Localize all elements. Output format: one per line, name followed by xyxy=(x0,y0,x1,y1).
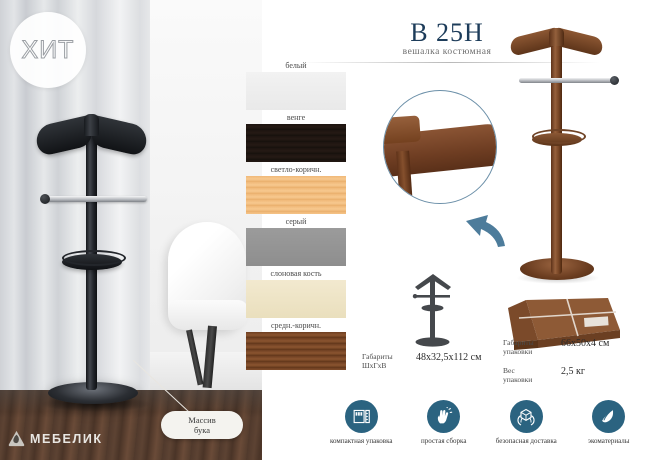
spec-key-line1: Габариты xyxy=(362,352,408,361)
swatch-label: слоновая кость xyxy=(240,268,352,280)
swatch-item-light-brown[interactable]: светло-коричн. xyxy=(240,164,352,214)
spec-dimensions-value: 48х32,5х112 см xyxy=(416,352,481,363)
product-silhouette-icon xyxy=(404,268,462,350)
hand-snap-icon xyxy=(434,407,453,426)
hit-badge: ХИТ xyxy=(10,12,86,88)
swatch-item-mid-brown[interactable]: средн.-коричн. xyxy=(240,320,352,370)
feature-compact-package: компактная упаковка xyxy=(320,400,403,456)
spec-package-weight: Вес упаковки 2,5 кг xyxy=(503,366,585,384)
feature-icon-circle xyxy=(592,400,625,433)
swatch-chip-venge[interactable] xyxy=(246,124,346,162)
swatch-item-ivory[interactable]: слоновая кость xyxy=(240,268,352,318)
feature-icon-circle xyxy=(510,400,543,433)
color-swatch-list: белый венге светло-коричн. серый слонова… xyxy=(240,60,352,370)
spec-key-line2: упаковки xyxy=(503,347,549,356)
brown-hanger-neck xyxy=(549,28,564,46)
detail-pointer-arrow-icon xyxy=(462,205,508,249)
spec-package-dimensions: Габариты упаковки 66х50х4 см xyxy=(503,338,609,356)
swatch-item-white[interactable]: белый xyxy=(240,60,352,110)
swatch-label: средн.-коричн. xyxy=(240,320,352,332)
brown-bar-knob xyxy=(610,76,619,85)
feature-label: компактная упаковка xyxy=(330,437,393,445)
spec-key-line1: Вес xyxy=(503,366,549,375)
swatch-item-gray[interactable]: серый xyxy=(240,216,352,266)
hit-badge-label: ХИТ xyxy=(22,36,75,65)
material-callout: Массив бука xyxy=(161,411,243,439)
spec-dimensions: Габариты ШхГхВ 48х32,5х112 см xyxy=(362,352,481,370)
swatch-label: светло-коричн. xyxy=(240,164,352,176)
feature-easy-assembly: простая сборка xyxy=(403,400,486,456)
valet-hanger-neck-black xyxy=(84,114,99,136)
feature-label: простая сборка xyxy=(421,437,466,445)
feature-badge-row: компактная упаковка простая сборка xyxy=(320,400,650,456)
swatch-label: серый xyxy=(240,216,352,228)
brown-tray-rim xyxy=(532,129,586,144)
swatch-chip-white[interactable] xyxy=(246,72,346,110)
feature-icon-circle xyxy=(427,400,460,433)
brand-logo-text: МЕБЕЛИК xyxy=(30,432,103,446)
callout-line-1: Массив xyxy=(188,415,215,425)
product-catalog-page: ХИТ Массив бука МЕБЕЛИК белый венге свет… xyxy=(0,0,650,460)
brown-trouser-bar xyxy=(519,78,614,83)
detail-closeup-circle xyxy=(383,90,497,204)
swatch-chip-mid-brown[interactable] xyxy=(246,332,346,370)
valet-trouser-bar-black xyxy=(43,196,147,202)
brand-logo: МЕБЕЛИК xyxy=(8,430,103,447)
feature-eco-materials: экоматериалы xyxy=(568,400,650,456)
spec-weight-value: 2,5 кг xyxy=(561,366,585,377)
hands-box-icon xyxy=(516,407,536,427)
flatpack-ruler-icon xyxy=(352,407,371,426)
callout-line-2: бука xyxy=(194,425,210,435)
spec-package-value: 66х50х4 см xyxy=(561,338,609,349)
spec-key-line1: Габариты xyxy=(503,338,549,347)
feature-label: безопасная доставка xyxy=(496,437,557,445)
leaf-icon xyxy=(599,407,618,426)
detail-hanger-tip xyxy=(383,115,421,144)
valet-bar-knob-black xyxy=(40,194,50,204)
spec-dimensions-key: Габариты ШхГхВ xyxy=(362,352,408,370)
swatch-chip-light-brown[interactable] xyxy=(246,176,346,214)
leaf-triangle-icon xyxy=(8,430,25,447)
spec-key-line2: упаковки xyxy=(503,375,549,384)
spec-package-key: Габариты упаковки xyxy=(503,338,549,356)
swatch-item-venge[interactable]: венге xyxy=(240,112,352,162)
swatch-chip-gray[interactable] xyxy=(246,228,346,266)
feature-icon-circle xyxy=(345,400,378,433)
callout-leader-line xyxy=(133,360,205,416)
spec-key-line2: ШхГхВ xyxy=(362,361,408,370)
feature-label: экоматериалы xyxy=(588,437,630,445)
swatch-chip-ivory[interactable] xyxy=(246,280,346,318)
feature-safe-delivery: безопасная доставка xyxy=(485,400,568,456)
spec-weight-key: Вес упаковки xyxy=(503,366,549,384)
swatch-label: венге xyxy=(240,112,352,124)
valet-tray-rim-black xyxy=(62,250,126,266)
